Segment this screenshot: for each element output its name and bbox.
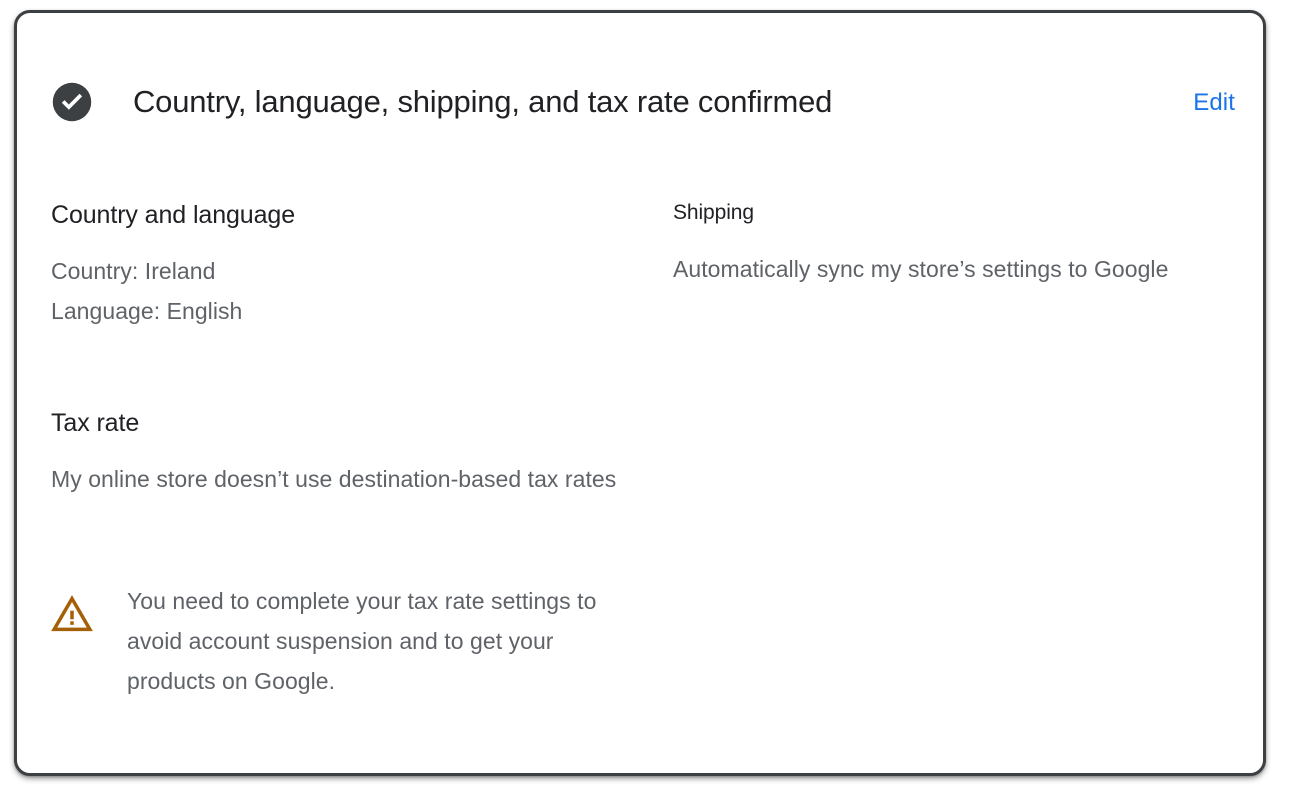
shipping-section: Shipping Automatically sync my store’s s… bbox=[673, 199, 1233, 289]
country-value: Country: Ireland bbox=[51, 251, 651, 291]
page-title: Country, language, shipping, and tax rat… bbox=[133, 81, 1133, 123]
tax-rate-heading: Tax rate bbox=[51, 407, 651, 439]
tax-rate-section: Tax rate My online store doesn’t use des… bbox=[51, 407, 651, 499]
country-language-heading: Country and language bbox=[51, 199, 651, 231]
shipping-description: Automatically sync my store’s settings t… bbox=[673, 249, 1233, 289]
shipping-heading: Shipping bbox=[673, 199, 1233, 227]
check-circle-filled-icon bbox=[51, 81, 93, 123]
card-header: Country, language, shipping, and tax rat… bbox=[17, 13, 1263, 143]
language-value: Language: English bbox=[51, 291, 651, 331]
tax-rate-warning-text: You need to complete your tax rate setti… bbox=[127, 581, 627, 701]
country-language-section: Country and language Country: Ireland La… bbox=[51, 199, 651, 331]
warning-triangle-icon bbox=[51, 593, 93, 635]
tax-rate-description: My online store doesn’t use destination-… bbox=[51, 459, 651, 499]
setup-summary-card: Country, language, shipping, and tax rat… bbox=[14, 10, 1266, 776]
edit-button[interactable]: Edit bbox=[1193, 87, 1235, 119]
tax-rate-warning: You need to complete your tax rate setti… bbox=[51, 581, 671, 701]
